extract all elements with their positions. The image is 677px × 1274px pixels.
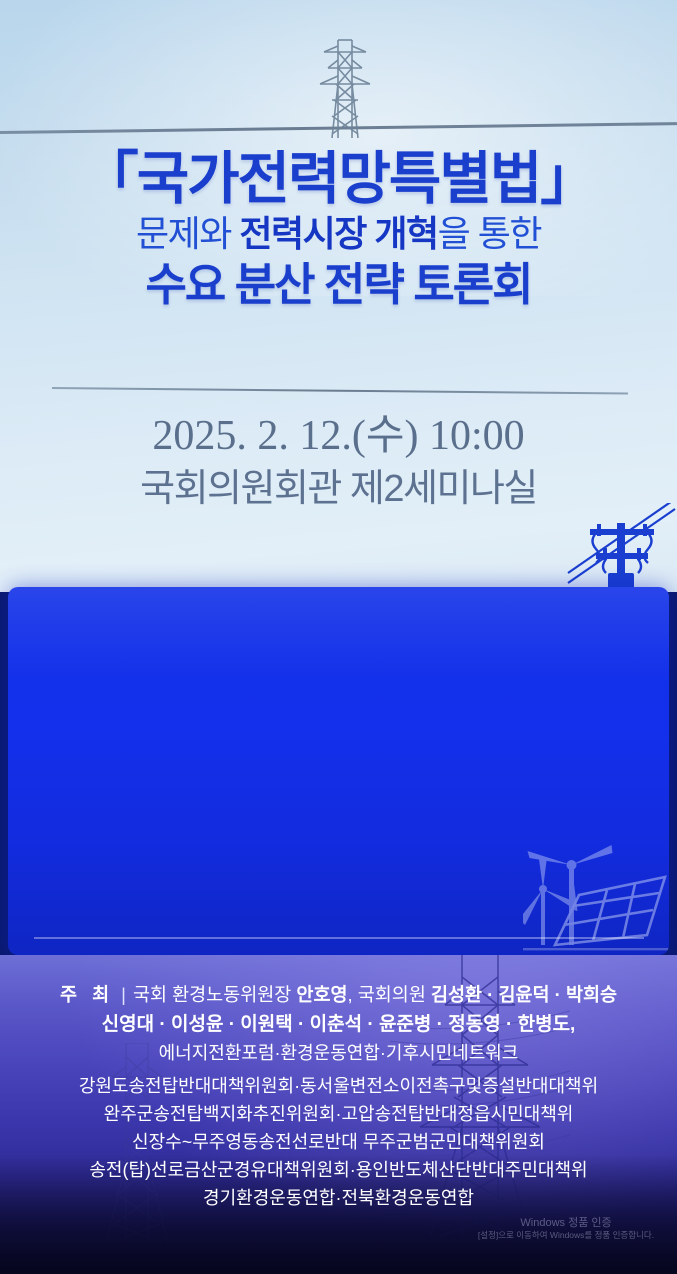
hosts-label: 주 최: [60, 984, 114, 1005]
event-datetime: 2025. 2. 12.(수) 10:00: [0, 410, 677, 463]
title-line-2: 문제와 전력시장 개혁을 통한: [0, 211, 677, 256]
hosts-line-4: 강원도송전탑반대대책위원회·동서울변전소이전촉구및증설반대대책위: [0, 1077, 677, 1095]
watermark-line-1: Windows 정품 인증: [471, 1216, 661, 1230]
hosts-line-8: 경기환경운동연합·전북환경운동연합: [0, 1189, 677, 1207]
title-line-2-prefix: 문제와: [136, 213, 239, 254]
hosts-line-6: 신장수~무주영동송전선로반대 무주군범군민대책위원회: [0, 1133, 677, 1151]
hosts-label-separator: |: [114, 984, 133, 1005]
title-line-1: 「국가전력망특별법」: [0, 150, 677, 209]
title-line-3: 수요 분산 전략 토론회: [0, 259, 677, 311]
windows-activation-watermark: Windows 정품 인증 [설정]으로 이동하여 Windows를 정품 인증…: [471, 1216, 661, 1241]
title-line-2-emphasis: 전력시장 개혁: [239, 213, 437, 254]
hosts-line-1-name-1: 안호영: [296, 984, 347, 1005]
program-panel: [현장의 목소리를 듣는다] 송전탑 경과대역 주민이 보는 전력망특별법 전북…: [8, 587, 669, 955]
event-schedule: 2025. 2. 12.(수) 10:00 국회의원회관 제2세미나실: [0, 410, 677, 514]
hosts-line-7: 송전(탑)선로금산군경유대책위원회·용인반도체산단반대주민대책위: [0, 1161, 677, 1179]
hosts-line-3: 에너지전환포럼·환경운동연합·기후시민네트워크: [0, 1044, 677, 1062]
hosts-line-1-name-2: 김성환 · 김윤덕 · 박희승: [431, 984, 617, 1005]
poster-root: 「국가전력망특별법」 문제와 전력시장 개혁을 통한 수요 분산 전략 토론회 …: [0, 0, 677, 1274]
hosts-line-1: 주 최|국회 환경노동위원장 안호영, 국회의원 김성환 · 김윤덕 · 박희승: [0, 986, 677, 1005]
watermark-line-2: [설정]으로 이동하여 Windows를 정품 인증합니다.: [471, 1230, 661, 1241]
hosts-line-2: 신영대 · 이성윤 · 이원택 · 이춘석 · 윤준병 · 정동영 · 한병도,: [0, 1015, 677, 1034]
poster-title: 「국가전력망특별법」 문제와 전력시장 개혁을 통한 수요 분산 전략 토론회: [0, 150, 677, 311]
hosts-line-5: 완주군송전탑백지화추진위원회·고압송전탑반대정읍시민대책위: [0, 1105, 677, 1123]
transmission-tower-icon: [302, 38, 388, 138]
hosts-line-1-middle: , 국회의원: [347, 984, 431, 1005]
program-list: [현장의 목소리를 듣는다] 송전탑 경과대역 주민이 보는 전력망특별법 전북…: [8, 587, 669, 955]
utility-pole-icon: [566, 503, 677, 595]
title-line-2-suffix: 을 통한: [438, 213, 541, 254]
hosts-line-1-prefix: 국회 환경노동위원장: [133, 984, 296, 1005]
